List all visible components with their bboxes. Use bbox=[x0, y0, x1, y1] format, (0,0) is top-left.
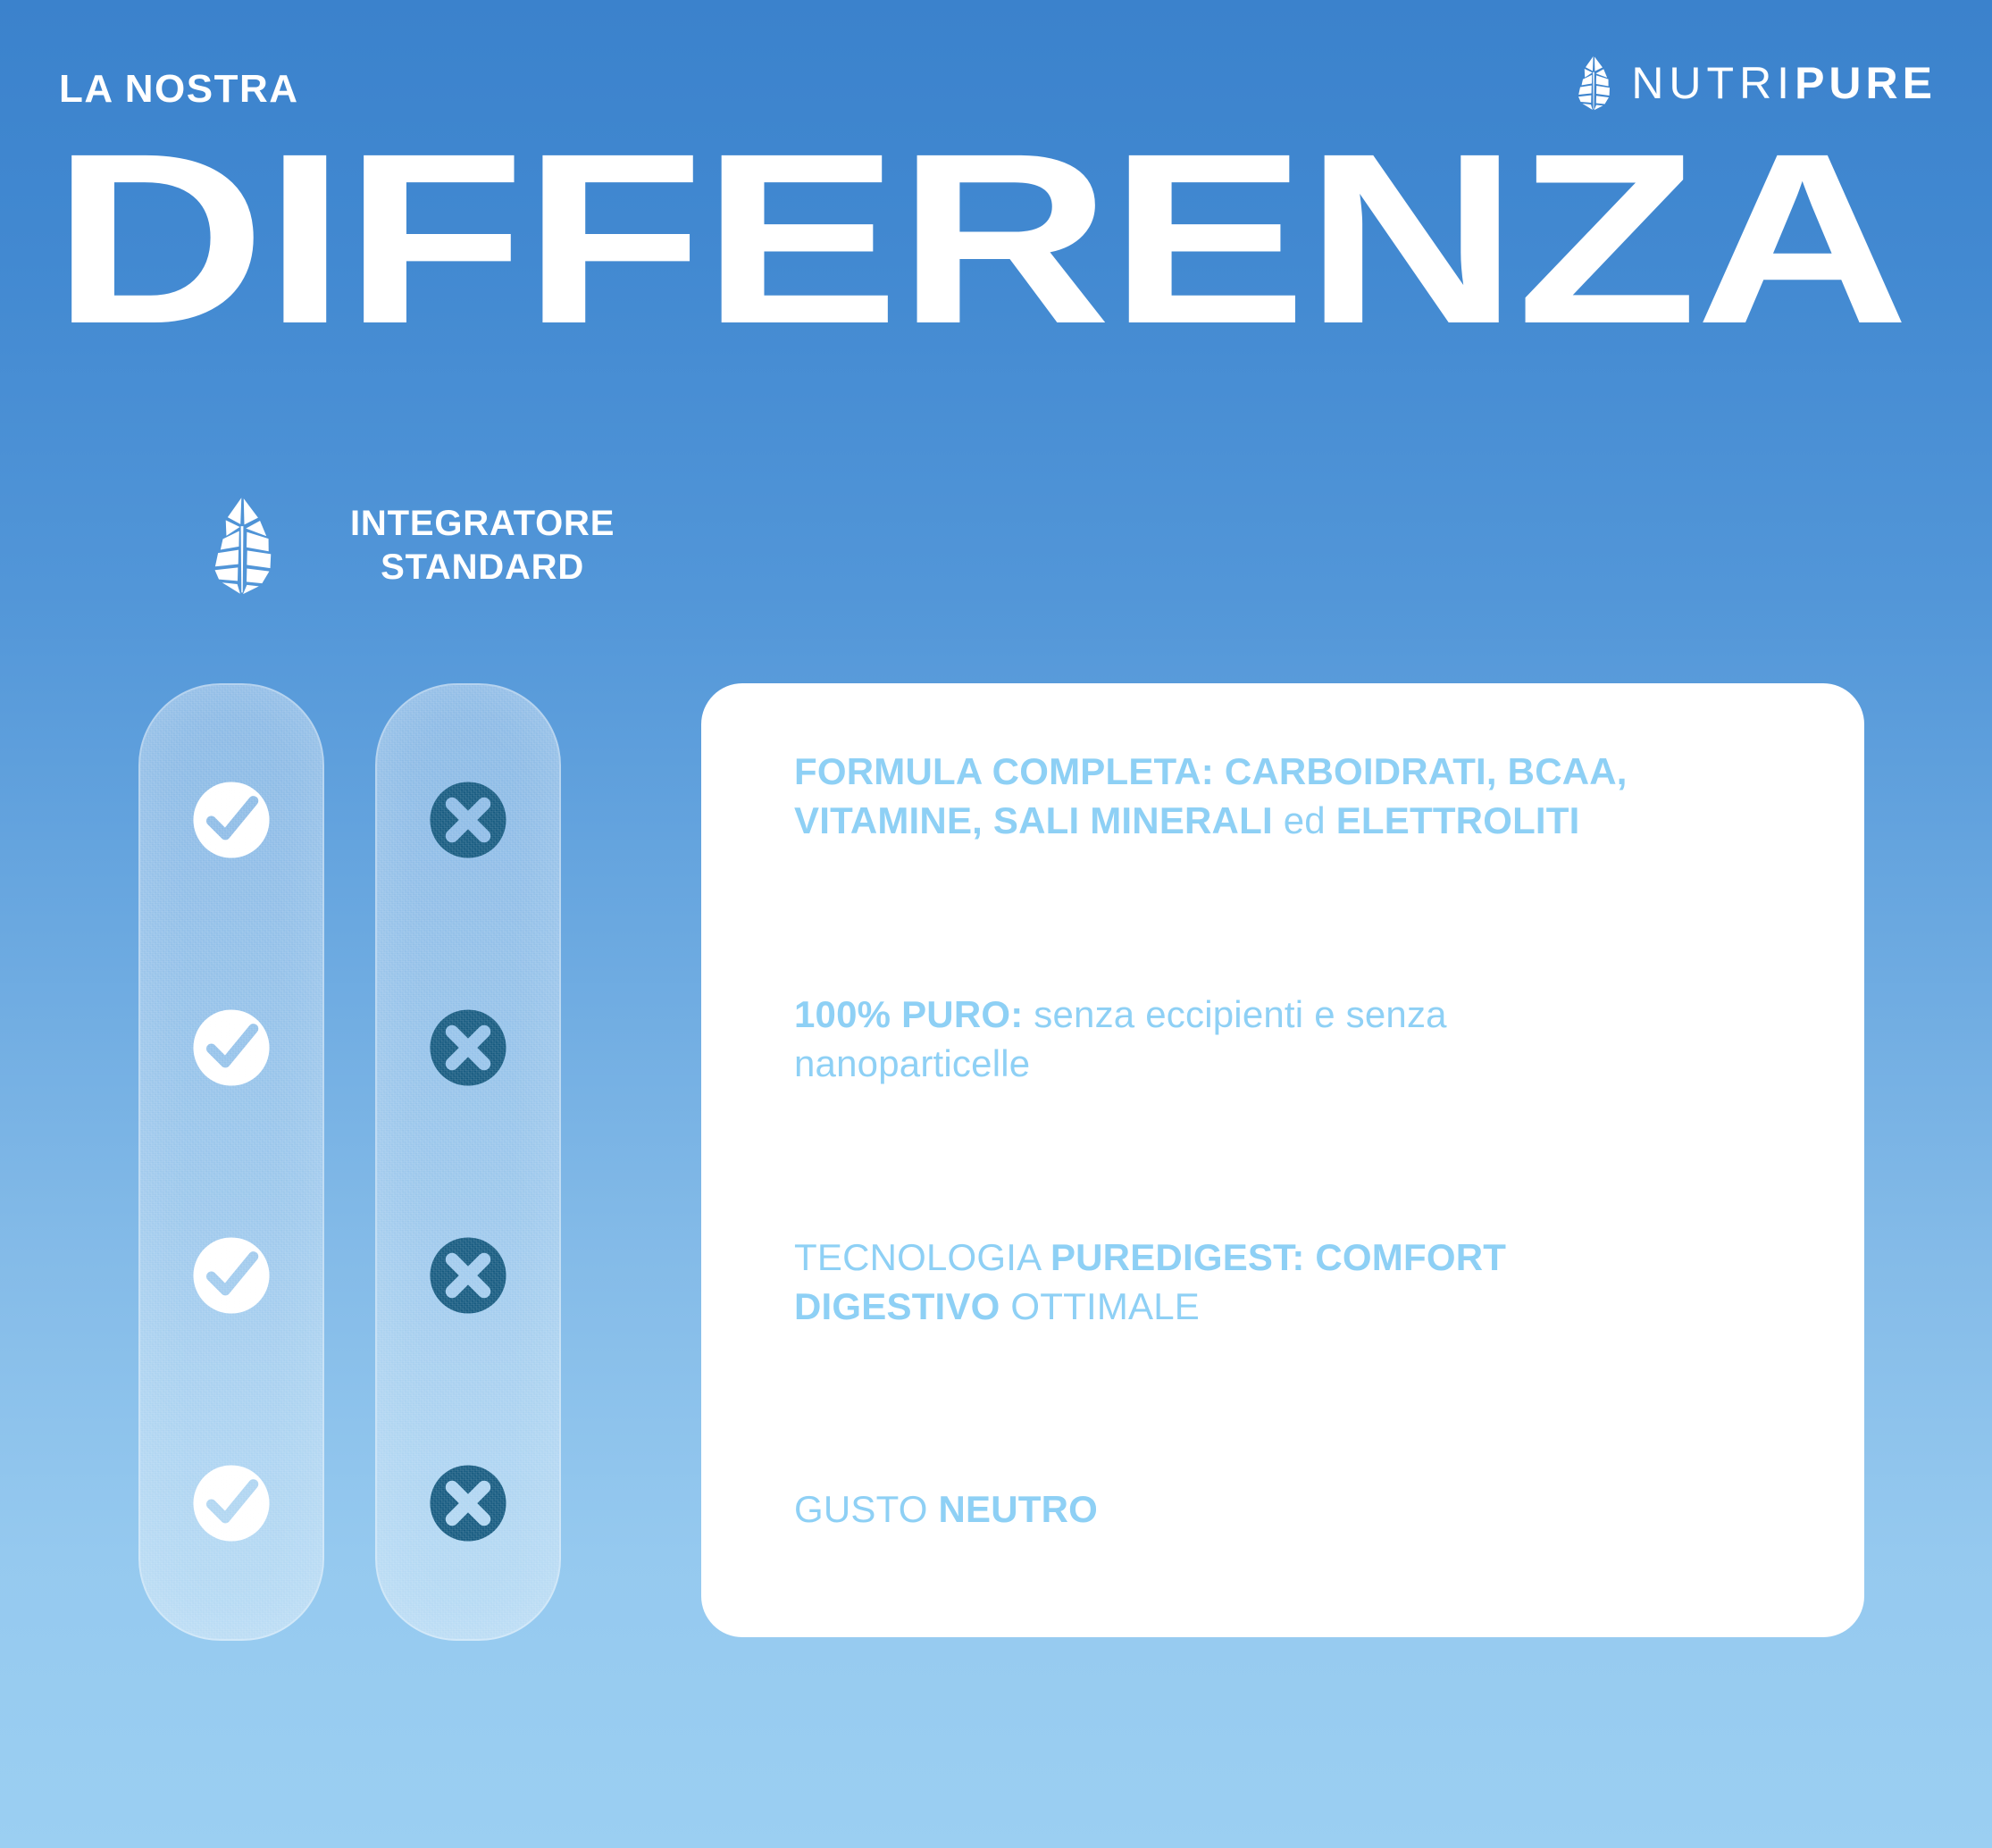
x-circle-icon bbox=[418, 1453, 518, 1553]
features-card: FORMULA COMPLETA: CARBOIDRATI, BCAA, VIT… bbox=[701, 683, 1864, 1637]
feature-item: TECNOLOGIA PUREDIGEST: COMFORT DIGESTIVO… bbox=[794, 1233, 1714, 1331]
brand-name-bold: PURE bbox=[1795, 61, 1937, 105]
legend-label: INTEGRATORE STANDARD bbox=[350, 502, 615, 590]
brand-wordmark: NUTRIPURE bbox=[1631, 61, 1937, 105]
leaf-icon bbox=[204, 475, 280, 616]
check-circle-icon bbox=[181, 1225, 281, 1325]
brand-name-light: NUTRI bbox=[1631, 61, 1795, 105]
feature-item: GUSTO NEUTRO bbox=[794, 1485, 1714, 1534]
check-circle-icon bbox=[181, 998, 281, 1098]
infographic-root: LA NOSTRA NUTRIPURE DIFFERE bbox=[0, 0, 1992, 1848]
negative-column bbox=[375, 683, 561, 1641]
x-circle-icon bbox=[418, 770, 518, 870]
x-circle-icon bbox=[418, 998, 518, 1098]
x-circle-icon bbox=[418, 1225, 518, 1325]
legend-row: INTEGRATORE STANDARD bbox=[204, 475, 615, 616]
feature-item: FORMULA COMPLETA: CARBOIDRATI, BCAA, VIT… bbox=[794, 748, 1786, 845]
check-circle-icon bbox=[181, 770, 281, 870]
page-title: DIFFERENZA bbox=[52, 132, 1992, 346]
check-circle-icon bbox=[181, 1453, 281, 1553]
feature-item: 100% PURO: senza eccipienti e senza nano… bbox=[794, 991, 1661, 1088]
positive-column bbox=[138, 683, 324, 1641]
